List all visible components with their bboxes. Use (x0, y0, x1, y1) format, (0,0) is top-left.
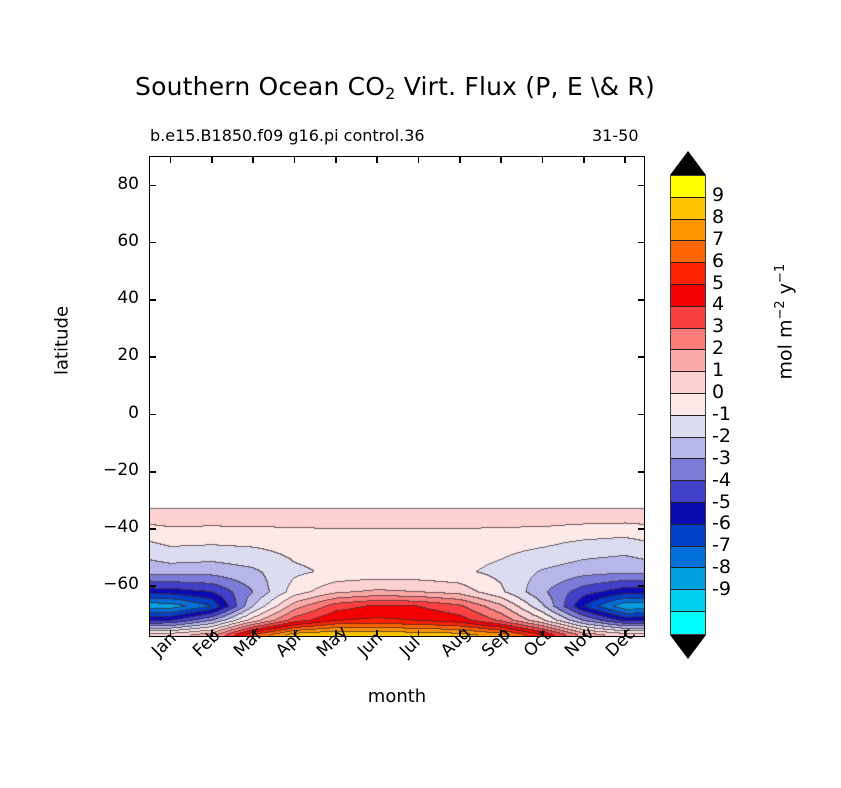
cb-units-text: mol m−2 y−1 (775, 264, 797, 380)
colorbar-band (671, 568, 705, 590)
colorbar-band (671, 503, 705, 525)
y-axis-tick (638, 356, 645, 358)
y-axis-tick (638, 414, 645, 416)
y-axis-tick-label: −40 (77, 517, 139, 537)
colorbar-tick-label: -6 (712, 512, 731, 534)
colorbar-band (671, 372, 705, 394)
colorbar-band (671, 525, 705, 547)
y-axis-tick-label: 40 (77, 288, 139, 308)
y-axis-tick (638, 585, 645, 587)
colorbar-band (671, 394, 705, 416)
y-axis-tick (149, 185, 156, 187)
colorbar-tick-label: 4 (712, 293, 724, 315)
colorbar-tick-label: 6 (712, 250, 724, 272)
contour-canvas (150, 157, 645, 637)
y-axis-tick (638, 528, 645, 530)
x-axis-tick (376, 156, 378, 163)
y-axis-tick-label: −20 (77, 460, 139, 480)
colorbar-band (671, 416, 705, 438)
colorbar-tick-label: -5 (712, 491, 731, 513)
x-axis-tick (294, 156, 296, 163)
colorbar-tick-label: -4 (712, 469, 731, 491)
y-axis-tick (149, 299, 156, 301)
y-axis-tick (149, 528, 156, 530)
y-axis-tick (149, 471, 156, 473)
colorbar-band (671, 198, 705, 220)
colorbar-tick-label: 7 (712, 228, 724, 250)
case-id-label: b.e15.B1850.f09 g16.pi control.36 (150, 126, 425, 145)
title-rest: Virt. Flux (P, E \& R) (396, 72, 655, 101)
colorbar-band (671, 459, 705, 481)
colorbar-band (671, 263, 705, 285)
colorbar-tick-label: 8 (712, 206, 724, 228)
year-range-label: 31-50 (592, 126, 639, 145)
colorbar-tick-label: -9 (712, 578, 731, 600)
y-axis-tick (149, 356, 156, 358)
y-axis-tick-label: 60 (77, 231, 139, 251)
colorbar-band (671, 307, 705, 329)
x-axis-tick (211, 156, 213, 163)
y-axis-tick (638, 471, 645, 473)
colorbar-tick-label: 1 (712, 359, 724, 381)
x-axis-tick (335, 156, 337, 163)
colorbar-band (671, 438, 705, 460)
x-axis-tick (252, 156, 254, 163)
x-axis-tick (583, 156, 585, 163)
y-axis-tick (638, 242, 645, 244)
y-axis-tick-label: −60 (77, 574, 139, 594)
x-axis-label: month (149, 686, 645, 707)
y-axis-label: latitude (52, 271, 73, 411)
colorbar-tick-label: 5 (712, 272, 724, 294)
colorbar[interactable] (670, 175, 706, 635)
y-axis-tick (149, 585, 156, 587)
colorbar-tick-label: -2 (712, 425, 731, 447)
colorbar-band (671, 481, 705, 503)
x-axis-tick (542, 156, 544, 163)
colorbar-units-label: mol m−2 y−1 (773, 237, 796, 407)
colorbar-tick-label: -3 (712, 447, 731, 469)
colorbar-tick-label: 2 (712, 337, 724, 359)
colorbar-under-arrow (670, 635, 706, 659)
contour-plot-area (149, 156, 645, 637)
colorbar-tick-label: 9 (712, 184, 724, 206)
colorbar-band (671, 285, 705, 307)
colorbar-tick-label: 0 (712, 381, 724, 403)
colorbar-band (671, 350, 705, 372)
colorbar-band (671, 612, 705, 634)
x-axis-tick (170, 156, 172, 163)
colorbar-band (671, 590, 705, 612)
y-axis-tick-label: 80 (77, 174, 139, 194)
colorbar-band (671, 547, 705, 569)
colorbar-band (671, 220, 705, 242)
title-subscript: 2 (385, 84, 395, 103)
y-axis-tick (149, 414, 156, 416)
x-axis-tick (500, 156, 502, 163)
y-axis-tick-label: 0 (77, 403, 139, 423)
colorbar-tick-label: 3 (712, 315, 724, 337)
colorbar-tick-label: -7 (712, 534, 731, 556)
colorbar-tick-label: -8 (712, 556, 731, 578)
x-axis-tick (459, 156, 461, 163)
colorbar-over-arrow (670, 151, 706, 175)
colorbar-band (671, 241, 705, 263)
colorbar-band (671, 176, 705, 198)
title-main: Southern Ocean CO (135, 72, 385, 101)
colorbar-tick-label: -1 (712, 403, 731, 425)
y-axis-tick (638, 185, 645, 187)
x-axis-tick (624, 156, 626, 163)
page-title: Southern Ocean CO2 Virt. Flux (P, E \& R… (0, 72, 790, 103)
y-axis-tick-label: 20 (77, 345, 139, 365)
x-axis-tick (418, 630, 420, 637)
y-axis-tick (149, 242, 156, 244)
colorbar-band (671, 329, 705, 351)
y-axis-tick (638, 299, 645, 301)
x-axis-tick (418, 156, 420, 163)
